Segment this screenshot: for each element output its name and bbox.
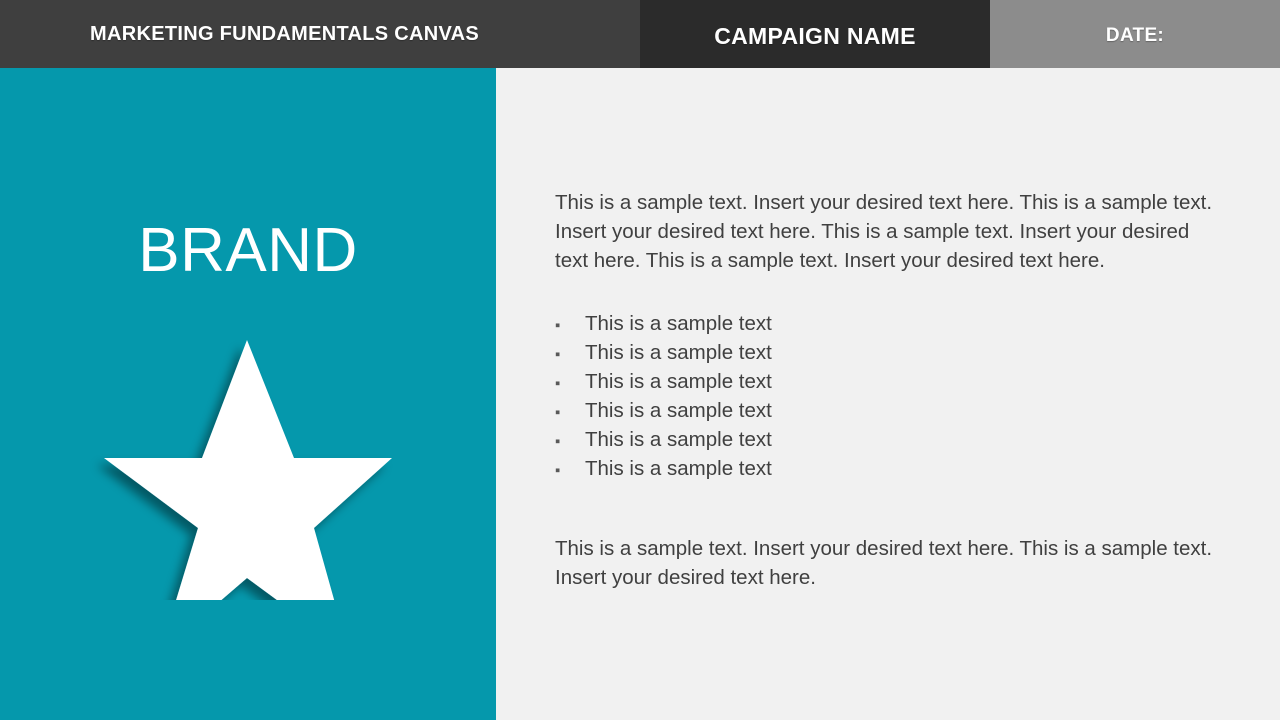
intro-paragraph: This is a sample text. Insert your desir… <box>555 188 1225 275</box>
list-item: ▪This is a sample text <box>555 425 1225 454</box>
square-bullet-icon: ▪ <box>555 369 585 398</box>
list-item-label: This is a sample text <box>585 309 772 338</box>
square-bullet-icon: ▪ <box>555 456 585 485</box>
square-bullet-icon: ▪ <box>555 340 585 369</box>
list-item-label: This is a sample text <box>585 454 772 483</box>
header-bar: MARKETING FUNDAMENTALS CANVAS CAMPAIGN N… <box>0 0 1280 68</box>
bullet-list: ▪This is a sample text▪This is a sample … <box>555 309 1225 483</box>
header-title-block: MARKETING FUNDAMENTALS CANVAS <box>0 0 640 68</box>
square-bullet-icon: ▪ <box>555 398 585 427</box>
star-icon <box>86 260 416 600</box>
list-item: ▪This is a sample text <box>555 309 1225 338</box>
list-item-label: This is a sample text <box>585 396 772 425</box>
header-date-block[interactable]: DATE: <box>990 0 1280 68</box>
brand-panel: BRAND <box>0 68 496 720</box>
list-item: ▪This is a sample text <box>555 454 1225 483</box>
list-item: ▪This is a sample text <box>555 396 1225 425</box>
list-item-label: This is a sample text <box>585 425 772 454</box>
square-bullet-icon: ▪ <box>555 311 585 340</box>
outro-paragraph: This is a sample text. Insert your desir… <box>555 534 1225 592</box>
date-label: DATE: <box>1106 25 1164 47</box>
brand-star-container <box>86 260 416 600</box>
canvas-title: MARKETING FUNDAMENTALS CANVAS <box>90 23 479 46</box>
list-item-label: This is a sample text <box>585 338 772 367</box>
square-bullet-icon: ▪ <box>555 427 585 456</box>
header-campaign-block[interactable]: CAMPAIGN NAME <box>640 0 990 68</box>
campaign-name-label: CAMPAIGN NAME <box>714 23 916 50</box>
list-item-label: This is a sample text <box>585 367 772 396</box>
list-item: ▪This is a sample text <box>555 338 1225 367</box>
content-panel: This is a sample text. Insert your desir… <box>496 68 1280 720</box>
list-item: ▪This is a sample text <box>555 367 1225 396</box>
